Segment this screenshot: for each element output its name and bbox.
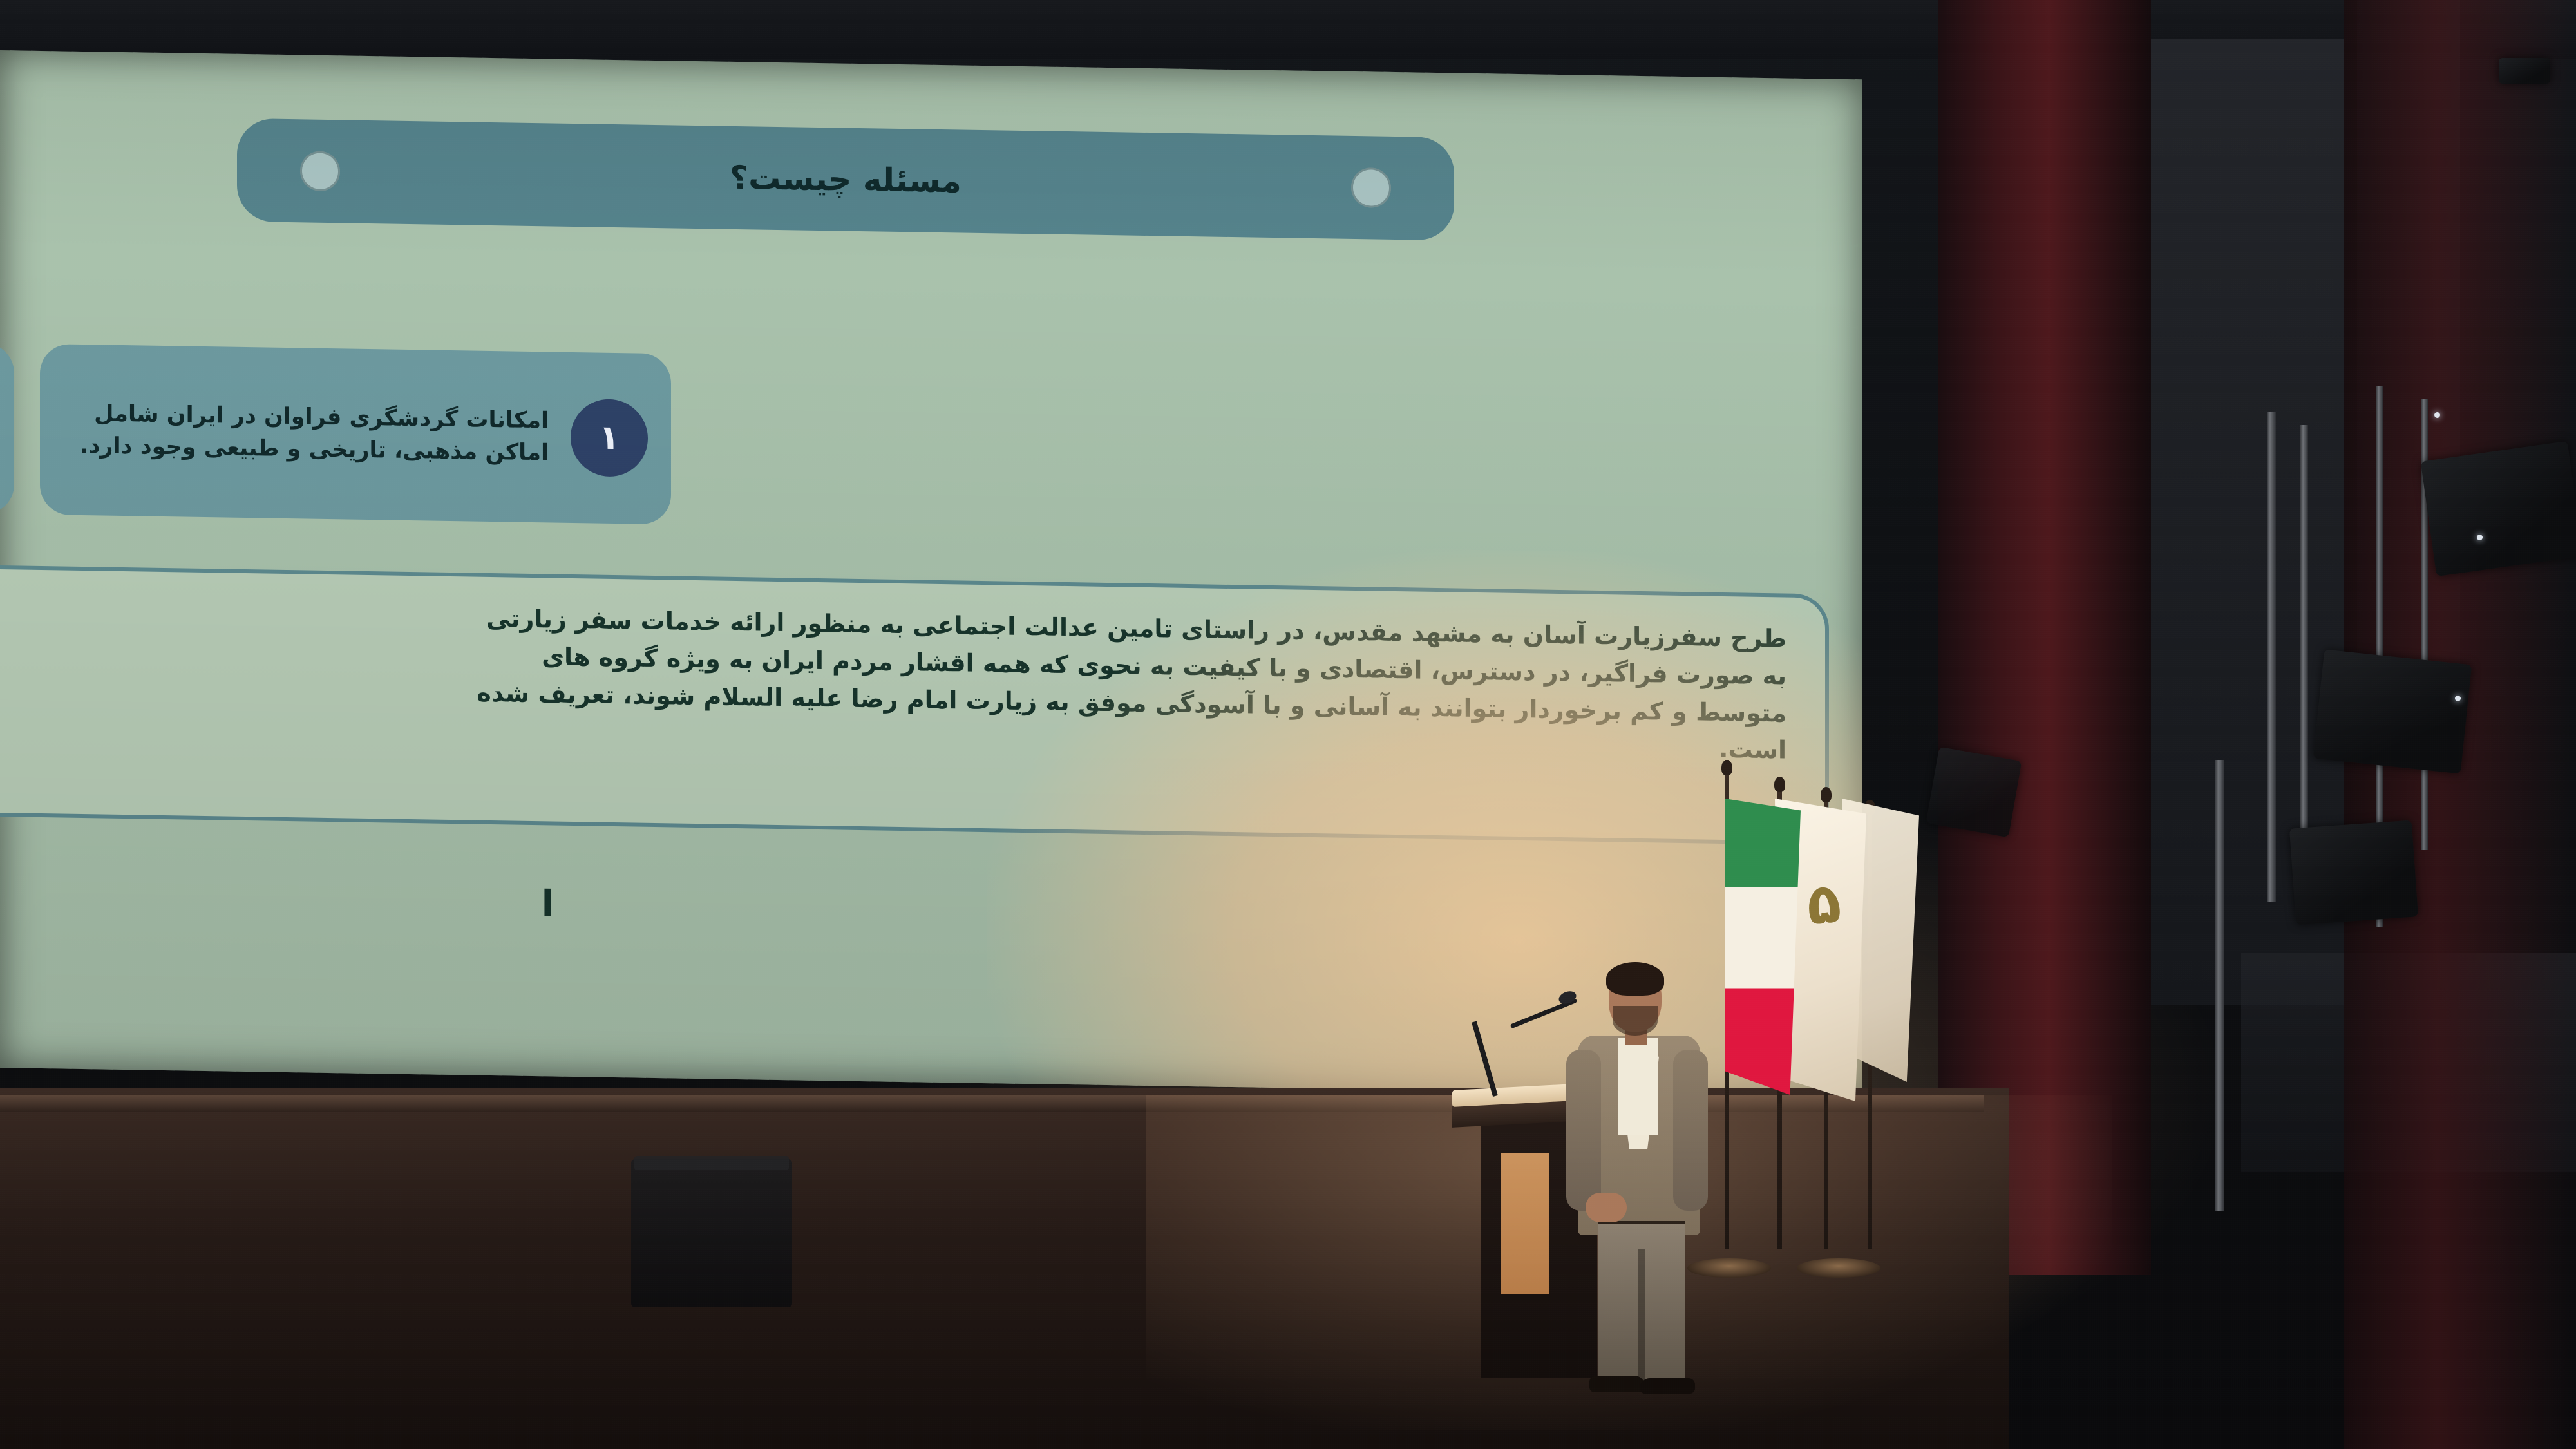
stage-light-fixture-4 [1926,747,2022,838]
presenter-shoe-left [1589,1376,1645,1392]
stage-light-fixture-3 [2289,820,2418,925]
rig-led-indicator-3 [2455,696,2461,701]
truss-pole-1 [2267,412,2276,902]
banner-dot-left-icon [300,151,340,191]
presenter-arm-left [1566,1050,1601,1211]
slide-card-2: ۲ در حال حاضر در کشور در حوزه سفر و گردش… [0,334,14,515]
rig-led-indicator-2 [2477,535,2483,540]
iran-national-flag [1725,799,1801,1095]
slide-cards-row: ۱ امکانات گردشگری فراوان در ایران شامل ا… [0,343,1862,565]
red-stage-curtain [1938,0,2151,1275]
flag-stand-base-2 [1797,1258,1880,1278]
card-text-1: امکانات گردشگری فراوان در ایران شامل اما… [67,397,549,469]
ceiling-fixture [2499,58,2550,84]
stage-light-fixture-1 [2421,441,2576,576]
stage-photo-canvas: مسئله چیست؟ ۱ امکانات گردشگری فراوان در … [0,0,2576,1449]
slide-title-text: مسئله چیست؟ [730,159,961,200]
flag-group: ۵ [1649,760,1945,1288]
stage-floor-object-top [634,1156,789,1170]
podium-front-panel [1501,1153,1549,1294]
presenter-shoe-right [1640,1378,1695,1394]
flag-finial-1-icon [1721,760,1732,775]
presenter-hands [1586,1193,1627,1222]
banner-dot-right-icon [1351,167,1391,208]
stage-light-fixture-2 [2313,649,2472,773]
rig-led-indicator-1 [2434,412,2440,418]
presentation-slide: مسئله چیست؟ ۱ امکانات گردشگری فراوان در … [0,50,1862,1097]
flag-finial-3-icon [1821,787,1832,802]
card-number-badge-1: ۱ [571,399,648,477]
projection-screen: مسئله چیست؟ ۱ امکانات گردشگری فراوان در … [0,50,1862,1097]
organization-logo-icon: ۵ [1791,871,1856,936]
slide-title-banner: مسئله چیست؟ [237,118,1454,241]
slide-bottom-partial-text: ا [0,874,554,925]
stage-floor-object [631,1159,792,1307]
slide-card-1: ۱ امکانات گردشگری فراوان در ایران شامل ا… [40,344,671,524]
truss-pole-5 [2215,760,2224,1211]
flag-stand-base-1 [1687,1258,1771,1278]
slide-paragraph-panel: طرح سفرزیارت آسان به مشهد مقدس، در راستا… [0,560,1829,845]
flag-finial-2-icon [1774,777,1785,792]
